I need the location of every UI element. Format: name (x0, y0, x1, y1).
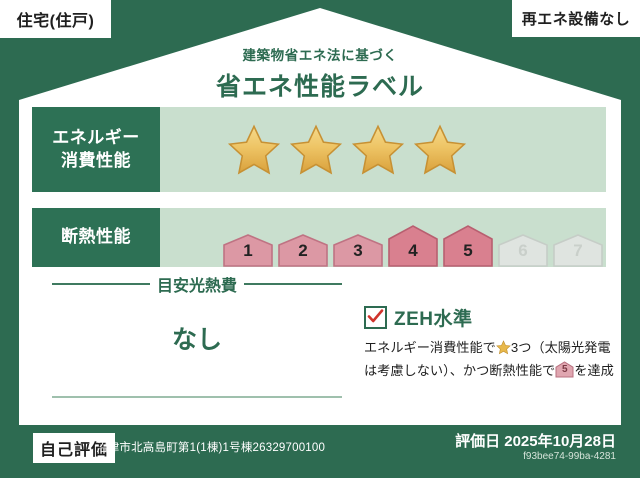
label-house-body: 建築物省エネ法に基づく 省エネ性能ラベル エネルギー 消費性能 断熱性能 123… (19, 8, 621, 425)
housing-type-label: 住宅(住戸) (17, 7, 95, 31)
zeh-title: ZEH水準 (394, 304, 473, 331)
page-title: 省エネ性能ラベル (19, 67, 621, 103)
grade-badge: 3 (332, 234, 384, 267)
zeh-heading: ZEH水準 (364, 304, 619, 331)
check-icon (367, 308, 384, 325)
property-address: 沼津市北高島町第1(1棟)1号棟26329700100 (96, 439, 325, 455)
star-icon (412, 123, 468, 177)
grade-badge: 6 (497, 234, 549, 267)
utility-cost-value: なし (52, 320, 342, 356)
grade-value: 2 (277, 241, 329, 261)
grade-value: 4 (387, 241, 439, 261)
zeh-standard-block: ZEH水準 エネルギー消費性能で 3つ（太陽光発電は考慮しない）、かつ断熱性能で… (364, 304, 619, 382)
star-icon (350, 123, 406, 177)
evaluation-id: f93bee74-99ba-4281 (523, 451, 616, 462)
insulation-performance-label: 断熱性能 (32, 208, 160, 267)
utility-cost-divider (52, 396, 342, 398)
zeh-desc-part1: エネルギー消費性能で (364, 340, 496, 355)
label-header: 建築物省エネ法に基づく 省エネ性能ラベル (19, 44, 621, 103)
energy-label-line2: 消費性能 (52, 150, 140, 173)
grade-badge: 4 (387, 225, 439, 267)
grade-badge: 1 (222, 234, 274, 267)
label-footer: 自己評価 沼津市北高島町第1(1棟)1号棟26329700100 評価日 202… (0, 425, 640, 478)
housing-type-tab: 住宅(住戸) (0, 0, 111, 38)
inline-star-icon (496, 340, 511, 361)
grade-value: 7 (552, 241, 604, 261)
grade-value: 1 (222, 241, 274, 261)
renewable-energy-tab: 再エネ設備なし (512, 0, 640, 37)
energy-performance-row: エネルギー 消費性能 (32, 107, 606, 192)
energy-performance-label: エネルギー 消費性能 (32, 107, 160, 192)
grade-badge: 7 (552, 234, 604, 267)
zeh-desc-part3: を達成 (574, 363, 614, 378)
zeh-checkbox (364, 306, 387, 329)
insulation-performance-value: 1234567 (160, 208, 606, 267)
insulation-performance-row: 断熱性能 1234567 (32, 208, 606, 267)
grade-badge: 5 (442, 225, 494, 267)
grade-scale: 1234567 (160, 208, 604, 267)
star-icon (226, 123, 282, 177)
heading-rule-right (244, 283, 342, 285)
evaluation-date: 評価日 2025年10月28日 (455, 430, 616, 451)
grade-value: 6 (497, 241, 549, 261)
zeh-description: エネルギー消費性能で 3つ（太陽光発電は考慮しない）、かつ断熱性能で 5 を達成 (364, 338, 619, 382)
energy-label-line1: エネルギー (52, 127, 140, 150)
label-subtitle: 建築物省エネ法に基づく (19, 44, 621, 64)
renewable-energy-label: 再エネ設備なし (522, 8, 631, 29)
utility-cost-title: 目安光熱費 (157, 272, 237, 296)
grade-value: 5 (442, 241, 494, 261)
inline-grade-badge: 5 (555, 361, 574, 378)
energy-performance-value (160, 107, 606, 192)
heading-rule-left (52, 283, 150, 285)
grade-value: 3 (332, 241, 384, 261)
utility-cost-heading: 目安光熱費 (52, 272, 342, 296)
star-icon (288, 123, 344, 177)
star-rating (160, 123, 468, 177)
inline-grade-value: 5 (555, 362, 574, 378)
grade-badge: 2 (277, 234, 329, 267)
